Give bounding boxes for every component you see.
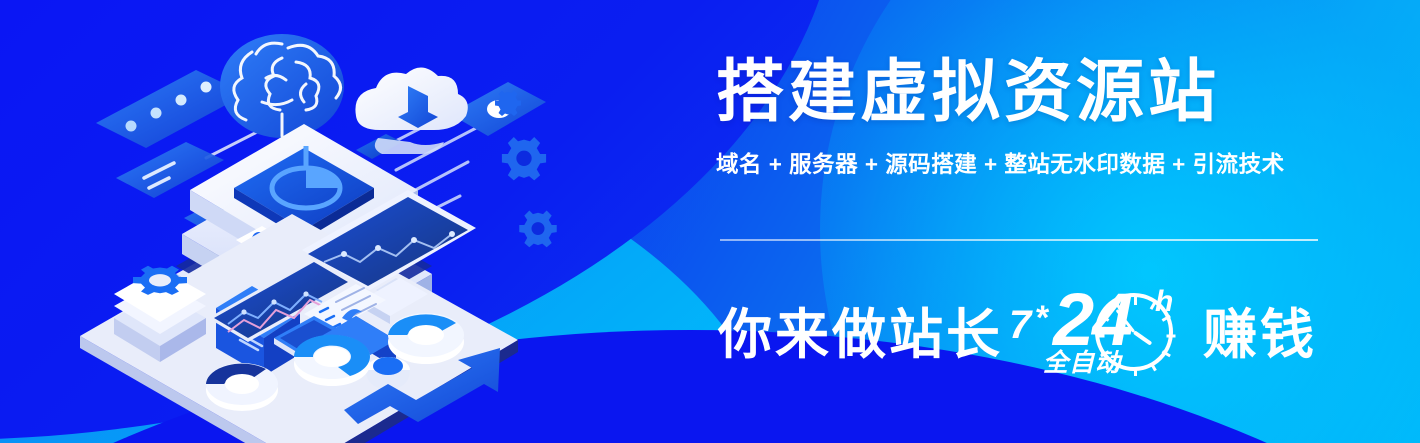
- promo-auto-label: 全自动: [1043, 343, 1121, 379]
- promo-hour-suffix: h: [1155, 285, 1173, 319]
- gear-icon-right-1: [502, 137, 546, 180]
- divider: [720, 239, 1318, 241]
- promo-star: *: [1036, 299, 1049, 338]
- page-title: 搭建虚拟资源站: [716, 58, 1336, 127]
- claim-right-text: 赚钱: [1203, 290, 1317, 369]
- claim-line: 你来做站长 7 * 24 h 全自动: [718, 281, 1317, 377]
- brain-icon: [220, 34, 344, 138]
- gear-icon-right-2: [519, 211, 556, 248]
- promo-banner: 搭建虚拟资源站 域名 + 服务器 + 源码搭建 + 整站无水印数据 + 引流技术…: [0, 0, 1420, 443]
- clock-hour-hand: [1133, 330, 1152, 345]
- subtitle: 域名 + 服务器 + 源码搭建 + 整站无水印数据 + 引流技术: [716, 147, 1336, 179]
- promo-24h-cluster: 7 * 24 h 全自动: [1009, 281, 1189, 377]
- copy-block: 搭建虚拟资源站 域名 + 服务器 + 源码搭建 + 整站无水印数据 + 引流技术: [716, 58, 1336, 179]
- promo-seven: 7: [1009, 303, 1031, 348]
- hero-illustration: [56, 18, 576, 418]
- claim-left-text: 你来做站长: [718, 290, 1003, 369]
